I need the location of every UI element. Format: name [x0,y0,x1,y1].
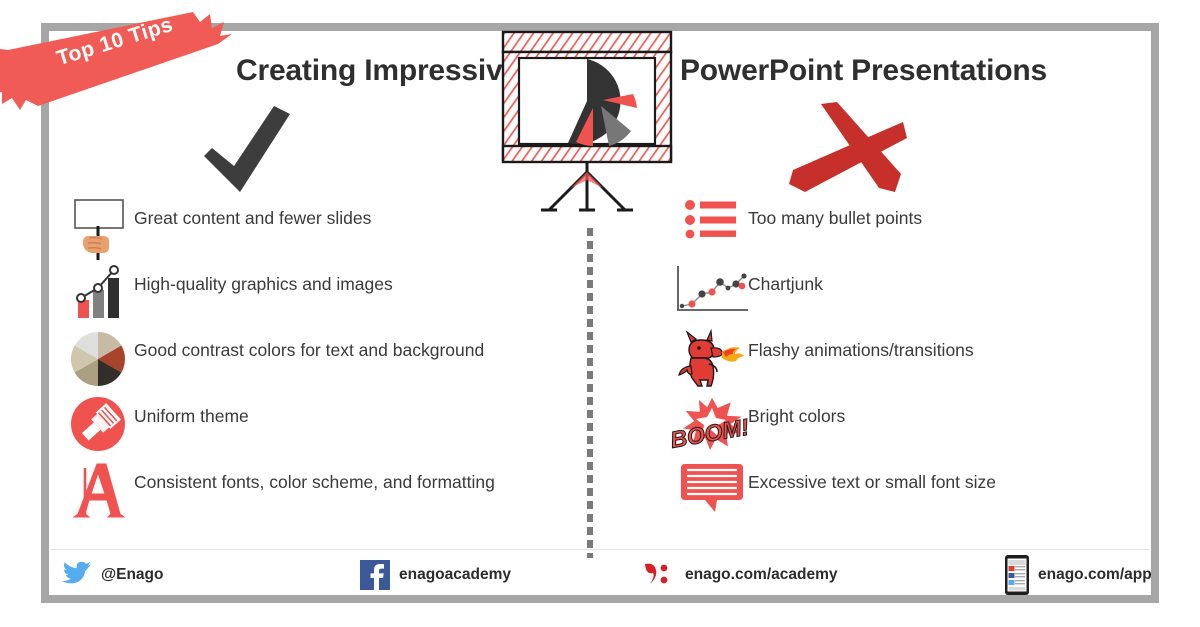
footer: @Enago enagoacademy enago.com/academy [50,558,1150,598]
bar-chart-growth-icon [62,262,134,328]
enago-logo-icon [642,560,676,590]
boom-burst-icon: BOOM! [676,394,748,460]
good-practices-list: Great content and fewer slides High-qual… [62,196,562,526]
footer-item-enago-app[interactable]: enago.com/app [1005,558,1152,592]
presentation-board-icon [497,28,677,218]
list-item: Chartjunk [676,262,1156,328]
list-item: Good contrast colors for text and backgr… [62,328,562,394]
bad-practices-list: Too many bullet points Chartju [676,196,1156,526]
page-title-right: PowerPoint Presentations [680,54,1047,88]
line-chart-icon [676,262,748,328]
twitter-icon [60,561,92,589]
list-item: Uniform theme [62,394,562,460]
footer-item-enago-academy[interactable]: enago.com/academy [642,558,837,592]
infographic-poster: Top 10 Tips Creating Impressive PowerPoi… [0,0,1200,627]
list-item: Too many bullet points [676,196,1156,262]
list-item-label: Flashy animations/transitions [748,328,974,360]
list-item-label: Too many bullet points [748,196,922,228]
facebook-icon [360,560,390,590]
footer-item-facebook[interactable]: enagoacademy [360,558,511,592]
letter-a-icon [62,460,134,526]
color-wheel-icon [62,328,134,394]
list-item-label: Chartjunk [748,262,823,294]
list-item-label: Bright colors [748,394,845,426]
mobile-phone-icon [1005,555,1029,595]
list-item: Flashy animations/transitions [676,328,1156,394]
page-title-left: Creating Impressive [236,54,519,88]
footer-divider [50,549,1150,550]
paintbrush-icon [62,394,134,460]
speech-bubble-text-icon [676,460,748,526]
list-item: Great content and fewer slides [62,196,562,262]
list-item: Consistent fonts, color scheme, and form… [62,460,562,526]
footer-item-label: enago.com/app [1038,566,1152,584]
list-item-label: Good contrast colors for text and backgr… [134,328,484,360]
bullet-list-icon [676,196,748,262]
list-item-label: Consistent fonts, color scheme, and form… [134,460,495,492]
list-item-label: Great content and fewer slides [134,196,371,228]
list-item-label: Uniform theme [134,394,249,426]
vertical-divider [587,228,593,558]
cross-icon [783,100,911,200]
list-item-label: High-quality graphics and images [134,262,393,294]
footer-item-label: enago.com/academy [685,566,837,584]
list-item-label: Excessive text or small font size [748,460,996,492]
footer-item-twitter[interactable]: @Enago [60,558,163,592]
list-item: Excessive text or small font size [676,460,1156,526]
list-item: High-quality graphics and images [62,262,562,328]
footer-item-label: @Enago [101,566,163,584]
checkmark-icon [192,104,302,196]
footer-item-label: enagoacademy [399,566,511,584]
list-item: BOOM! Bright colors [676,394,1156,460]
hand-holding-sign-icon [62,196,134,262]
fire-breathing-dragon-icon [676,328,748,394]
